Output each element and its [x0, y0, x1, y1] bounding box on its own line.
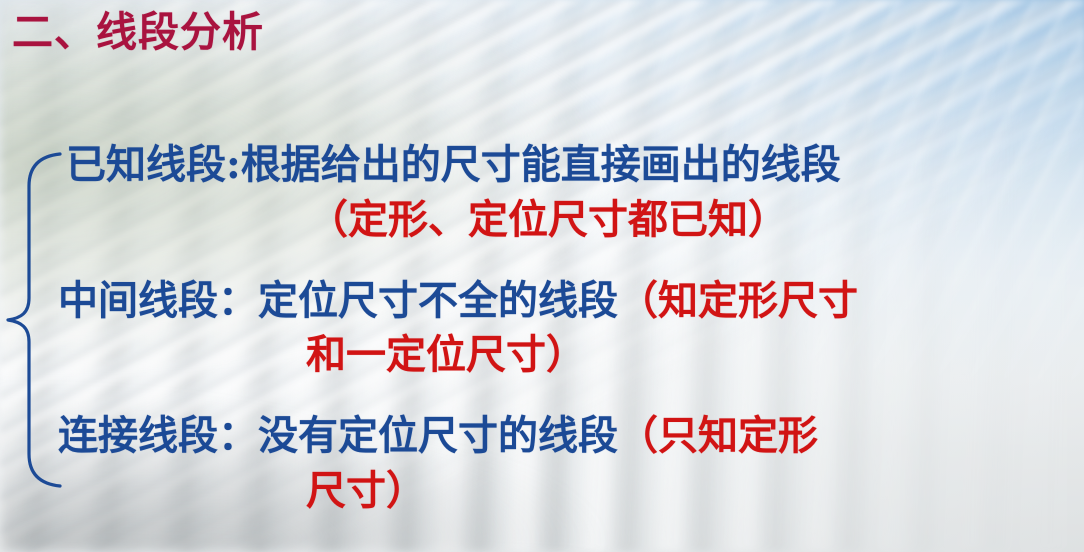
- line-4-red-text: 和一定位尺寸）: [306, 331, 586, 378]
- definition-list: 已知线段:根据给出的尺寸能直接画出的线段 （定形、定位尺寸都已知） 中间线段：定…: [58, 136, 1084, 521]
- definition-line-3: 中间线段：定位尺寸不全的线段（知定形尺寸: [58, 272, 1084, 331]
- line-1-blue-text: 已知线段:根据给出的尺寸能直接画出的线段: [66, 141, 841, 188]
- slide-content: 二、线段分析 已知线段:根据给出的尺寸能直接画出的线段 （定形、定位尺寸都已知）…: [0, 0, 1084, 552]
- line-3-red-text: （知定形尺寸: [618, 277, 858, 324]
- line-5-blue-text: 连接线段：没有定位尺寸的线段: [58, 412, 618, 459]
- line-6-red-text: 尺寸）: [306, 467, 426, 514]
- definition-line-4: 和一定位尺寸）: [306, 326, 1084, 385]
- line-5-red-text: （只知定形: [618, 412, 818, 459]
- definition-line-5: 连接线段：没有定位尺寸的线段（只知定形: [58, 407, 1084, 466]
- line-3-blue-text: 中间线段：定位尺寸不全的线段: [58, 277, 618, 324]
- page-title: 二、线段分析: [12, 8, 264, 57]
- definition-line-6: 尺寸）: [306, 462, 1084, 521]
- definition-line-1: 已知线段:根据给出的尺寸能直接画出的线段: [66, 136, 1084, 195]
- line-2-red-text: （定形、定位尺寸都已知）: [308, 196, 788, 243]
- slide-canvas: 二、线段分析 已知线段:根据给出的尺寸能直接画出的线段 （定形、定位尺寸都已知）…: [0, 0, 1084, 552]
- definition-line-2: （定形、定位尺寸都已知）: [308, 191, 1084, 250]
